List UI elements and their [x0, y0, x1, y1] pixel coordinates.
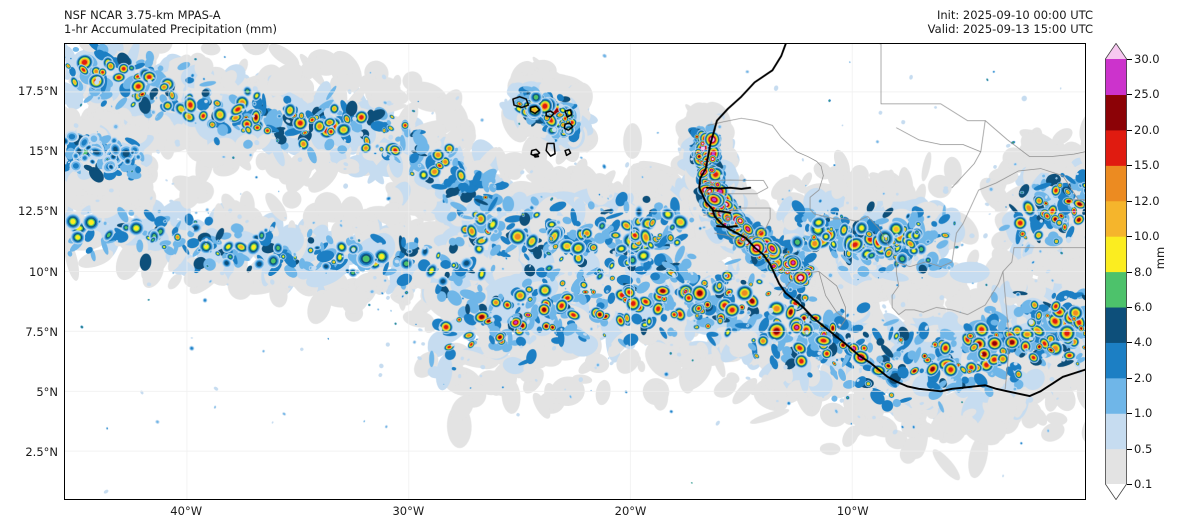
colorbar-tick-mark: [1127, 59, 1132, 60]
colorbar-tick-mark: [1127, 94, 1132, 95]
colorbar-tick-mark: [1127, 342, 1132, 343]
longitude-tick-label: 40°W: [170, 504, 202, 518]
colorbar-unit-label: mm: [1153, 247, 1167, 269]
colorbar-tick-mark: [1127, 165, 1132, 166]
longitude-tick-label: 10°W: [837, 504, 869, 518]
model-name: NSF NCAR 3.75-km MPAS-A: [64, 8, 221, 22]
colorbar-tick-mark: [1127, 272, 1132, 273]
field-name: 1-hr Accumulated Precipitation (mm): [64, 22, 277, 36]
colorbar-tick-mark: [1127, 201, 1132, 202]
latitude-tick-label: 12.5°N: [18, 204, 58, 218]
precipitation-map-canvas: [65, 44, 1085, 499]
latitude-tick-label: 15°N: [29, 144, 58, 158]
figure-title-left: NSF NCAR 3.75-km MPAS-A1-hr Accumulated …: [64, 8, 277, 36]
longitude-tick-label: 30°W: [392, 504, 424, 518]
colorbar-tick-mark: [1127, 307, 1132, 308]
colorbar-canvas: [1105, 43, 1127, 500]
latitude-tick-label: 5°N: [36, 385, 58, 399]
latitude-tick-label: 17.5°N: [18, 84, 58, 98]
longitude-tick-label: 20°W: [615, 504, 647, 518]
colorbar-tick-mark: [1127, 449, 1132, 450]
colorbar-tick-mark: [1127, 413, 1132, 414]
latitude-tick-label: 10°N: [29, 265, 58, 279]
colorbar-tick-mark: [1127, 130, 1132, 131]
map-plot-area: [64, 43, 1086, 500]
latitude-tick-label: 7.5°N: [25, 325, 58, 339]
init-time: Init: 2025-09-10 00:00 UTC: [937, 8, 1093, 22]
colorbar-tick-mark: [1127, 378, 1132, 379]
colorbar-tick-mark: [1127, 484, 1132, 485]
colorbar-tick-mark: [1127, 236, 1132, 237]
colorbar: [1105, 43, 1127, 500]
precipitation-forecast-figure: NSF NCAR 3.75-km MPAS-A1-hr Accumulated …: [0, 0, 1191, 530]
valid-time: Valid: 2025-09-13 15:00 UTC: [928, 22, 1093, 36]
latitude-tick-label: 2.5°N: [25, 445, 58, 459]
figure-title-right: Init: 2025-09-10 00:00 UTCValid: 2025-09…: [928, 8, 1093, 36]
